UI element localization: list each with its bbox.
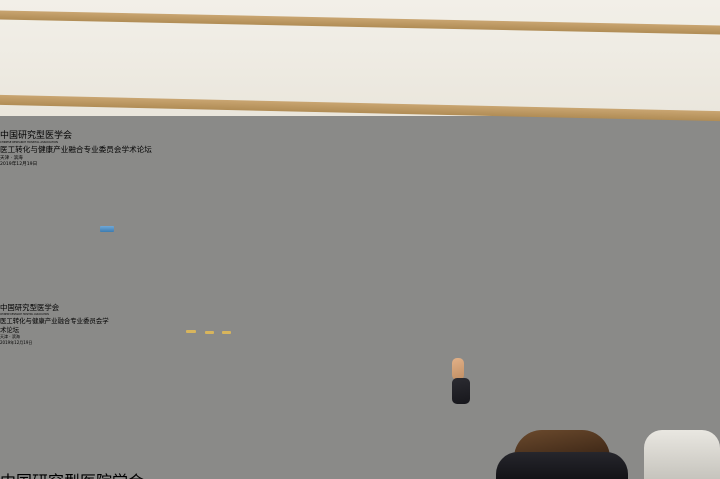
ceiling-light	[0, 77, 36, 89]
ceiling-light	[0, 30, 38, 41]
association-seal-icon	[0, 292, 10, 302]
attendee-shoulders	[644, 430, 720, 479]
presentation-slide: 中国研究型医院学会 医工转化专委会 研究型医院的特征与使命 • 研究型医院定义：…	[0, 468, 350, 479]
ceiling	[0, 0, 720, 116]
ceiling-light	[0, 0, 30, 9]
ceiling-light	[0, 110, 28, 117]
stage-floor-marker	[186, 330, 196, 333]
attendee-arm-sleeve	[452, 378, 470, 404]
podium-screen-icon	[100, 226, 114, 232]
slide-logo-text-primary: 中国研究型医院学会	[0, 468, 350, 479]
forum-title: 医工转化与健康产业融合专业委员会学术论坛	[0, 144, 176, 155]
conference-hall-photo: 中国研究型医学会 CHINESE RESEARCH HOSPITAL ASSOC…	[0, 0, 720, 479]
ceiling-light	[0, 20, 32, 30]
stage-floor-marker	[222, 331, 231, 334]
association-name-cn: 中国研究型医学会	[0, 128, 176, 141]
event-date: 2019年12月19日	[0, 340, 110, 346]
ceiling-light	[0, 53, 30, 67]
ceiling-light	[0, 117, 28, 124]
forum-title: 医工转化与健康产业融合专业委员会学术论坛	[0, 316, 110, 334]
association-name-cn: 中国研究型医学会	[0, 302, 110, 313]
ceiling-light	[0, 41, 36, 53]
right-projection-screen: 中国研究型医学会 CHINESE RESEARCH HOSPITAL ASSOC…	[0, 292, 110, 468]
stage-floor-marker	[205, 331, 214, 334]
ceiling-wood-trim-upper	[0, 10, 720, 34]
slide-logo: 中国研究型医院学会 医工转化专委会	[0, 468, 350, 479]
attendee-shoulders	[496, 452, 628, 479]
attendee-raised-hand	[452, 358, 464, 380]
ceiling-light	[0, 67, 34, 77]
left-projection-screen: 中国研究型医学会 CHINESE RESEARCH HOSPITAL ASSOC…	[0, 116, 176, 292]
event-date: 2019年12月19日	[0, 161, 176, 167]
center-projection-screen: 中国研究型医院学会 医工转化专委会 研究型医院的特征与使命 • 研究型医院定义：…	[0, 468, 350, 479]
